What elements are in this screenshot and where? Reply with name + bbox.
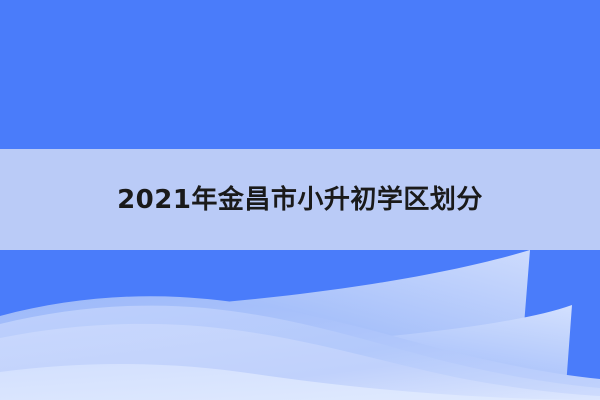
wave-graphic xyxy=(0,250,600,400)
title-band: 2021年金昌市小升初学区划分 xyxy=(0,149,600,250)
banner-image: 2021年金昌市小升初学区划分 xyxy=(0,0,600,400)
page-title: 2021年金昌市小升初学区划分 xyxy=(117,187,483,213)
top-color-band xyxy=(0,0,600,149)
wave-decoration-band xyxy=(0,250,600,400)
